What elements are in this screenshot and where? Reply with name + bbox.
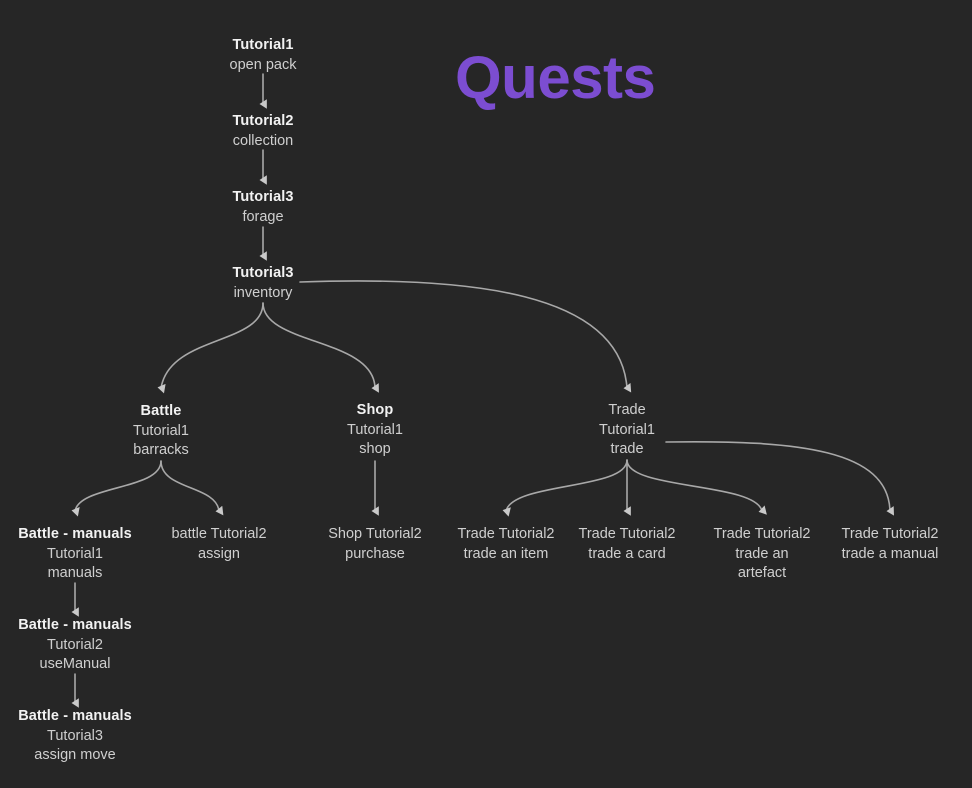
node-line-secondary: forage — [163, 208, 363, 228]
edge-trade-to-trade-artefact — [627, 460, 762, 511]
node-tutorial1-open-pack[interactable]: Tutorial1 open pack — [163, 36, 363, 75]
node-line-primary: Tutorial1 — [163, 36, 363, 56]
node-line-primary: Battle — [61, 402, 261, 422]
node-line-tertiary: useManual — [0, 655, 175, 675]
page-title: Quests — [455, 43, 655, 113]
node-line-primary: Trade — [527, 401, 727, 421]
node-line-secondary: trade a manual — [790, 545, 972, 565]
node-line-tertiary: artefact — [662, 564, 862, 584]
node-line-primary: Tutorial3 — [163, 188, 363, 208]
node-line-secondary: Tutorial1 — [275, 421, 475, 441]
node-line-primary: Trade Tutorial2 — [790, 525, 972, 545]
node-tutorial3-inventory[interactable]: Tutorial3 inventory — [163, 264, 363, 303]
edge-trade-to-trade-item — [506, 460, 627, 511]
edge-battle-to-battle-manuals-1 — [75, 461, 161, 511]
node-shop-shop[interactable]: Shop Tutorial1 shop — [275, 401, 475, 460]
edge-inventory-to-battle — [161, 303, 263, 388]
node-battle-manuals-tutorial2[interactable]: Battle - manuals Tutorial2 useManual — [0, 616, 175, 675]
node-line-secondary: Tutorial1 — [527, 421, 727, 441]
node-line-primary: Tutorial2 — [163, 112, 363, 132]
node-line-secondary: Tutorial2 — [0, 636, 175, 656]
node-battle-manuals-tutorial3[interactable]: Battle - manuals Tutorial3 assign move — [0, 707, 175, 766]
node-line-primary: Battle - manuals — [0, 616, 175, 636]
node-line-primary: Tutorial3 — [163, 264, 363, 284]
node-battle-barracks[interactable]: Battle Tutorial1 barracks — [61, 402, 261, 461]
node-line-tertiary: shop — [275, 440, 475, 460]
node-line-tertiary: barracks — [61, 441, 261, 461]
node-line-secondary: collection — [163, 132, 363, 152]
node-line-primary: Shop — [275, 401, 475, 421]
node-line-secondary: Tutorial3 — [0, 727, 175, 747]
edge-battle-to-battle-tutorial2-assign — [161, 461, 219, 511]
node-line-primary: Battle - manuals — [0, 707, 175, 727]
node-line-secondary: inventory — [163, 284, 363, 304]
edge-inventory-to-shop — [263, 303, 375, 388]
node-trade-tutorial2-manual[interactable]: Trade Tutorial2 trade a manual — [790, 525, 972, 564]
node-line-tertiary: assign move — [0, 746, 175, 766]
node-tutorial2-collection[interactable]: Tutorial2 collection — [163, 112, 363, 151]
node-line-secondary: Tutorial1 — [61, 422, 261, 442]
node-line-tertiary: manuals — [0, 564, 175, 584]
node-line-tertiary: trade — [527, 440, 727, 460]
quests-flowchart-canvas: Quests Tutorial1 open pack Tutorial2 col… — [0, 0, 972, 788]
node-tutorial3-forage[interactable]: Tutorial3 forage — [163, 188, 363, 227]
node-trade-trade[interactable]: Trade Tutorial1 trade — [527, 401, 727, 460]
node-line-secondary: open pack — [163, 56, 363, 76]
